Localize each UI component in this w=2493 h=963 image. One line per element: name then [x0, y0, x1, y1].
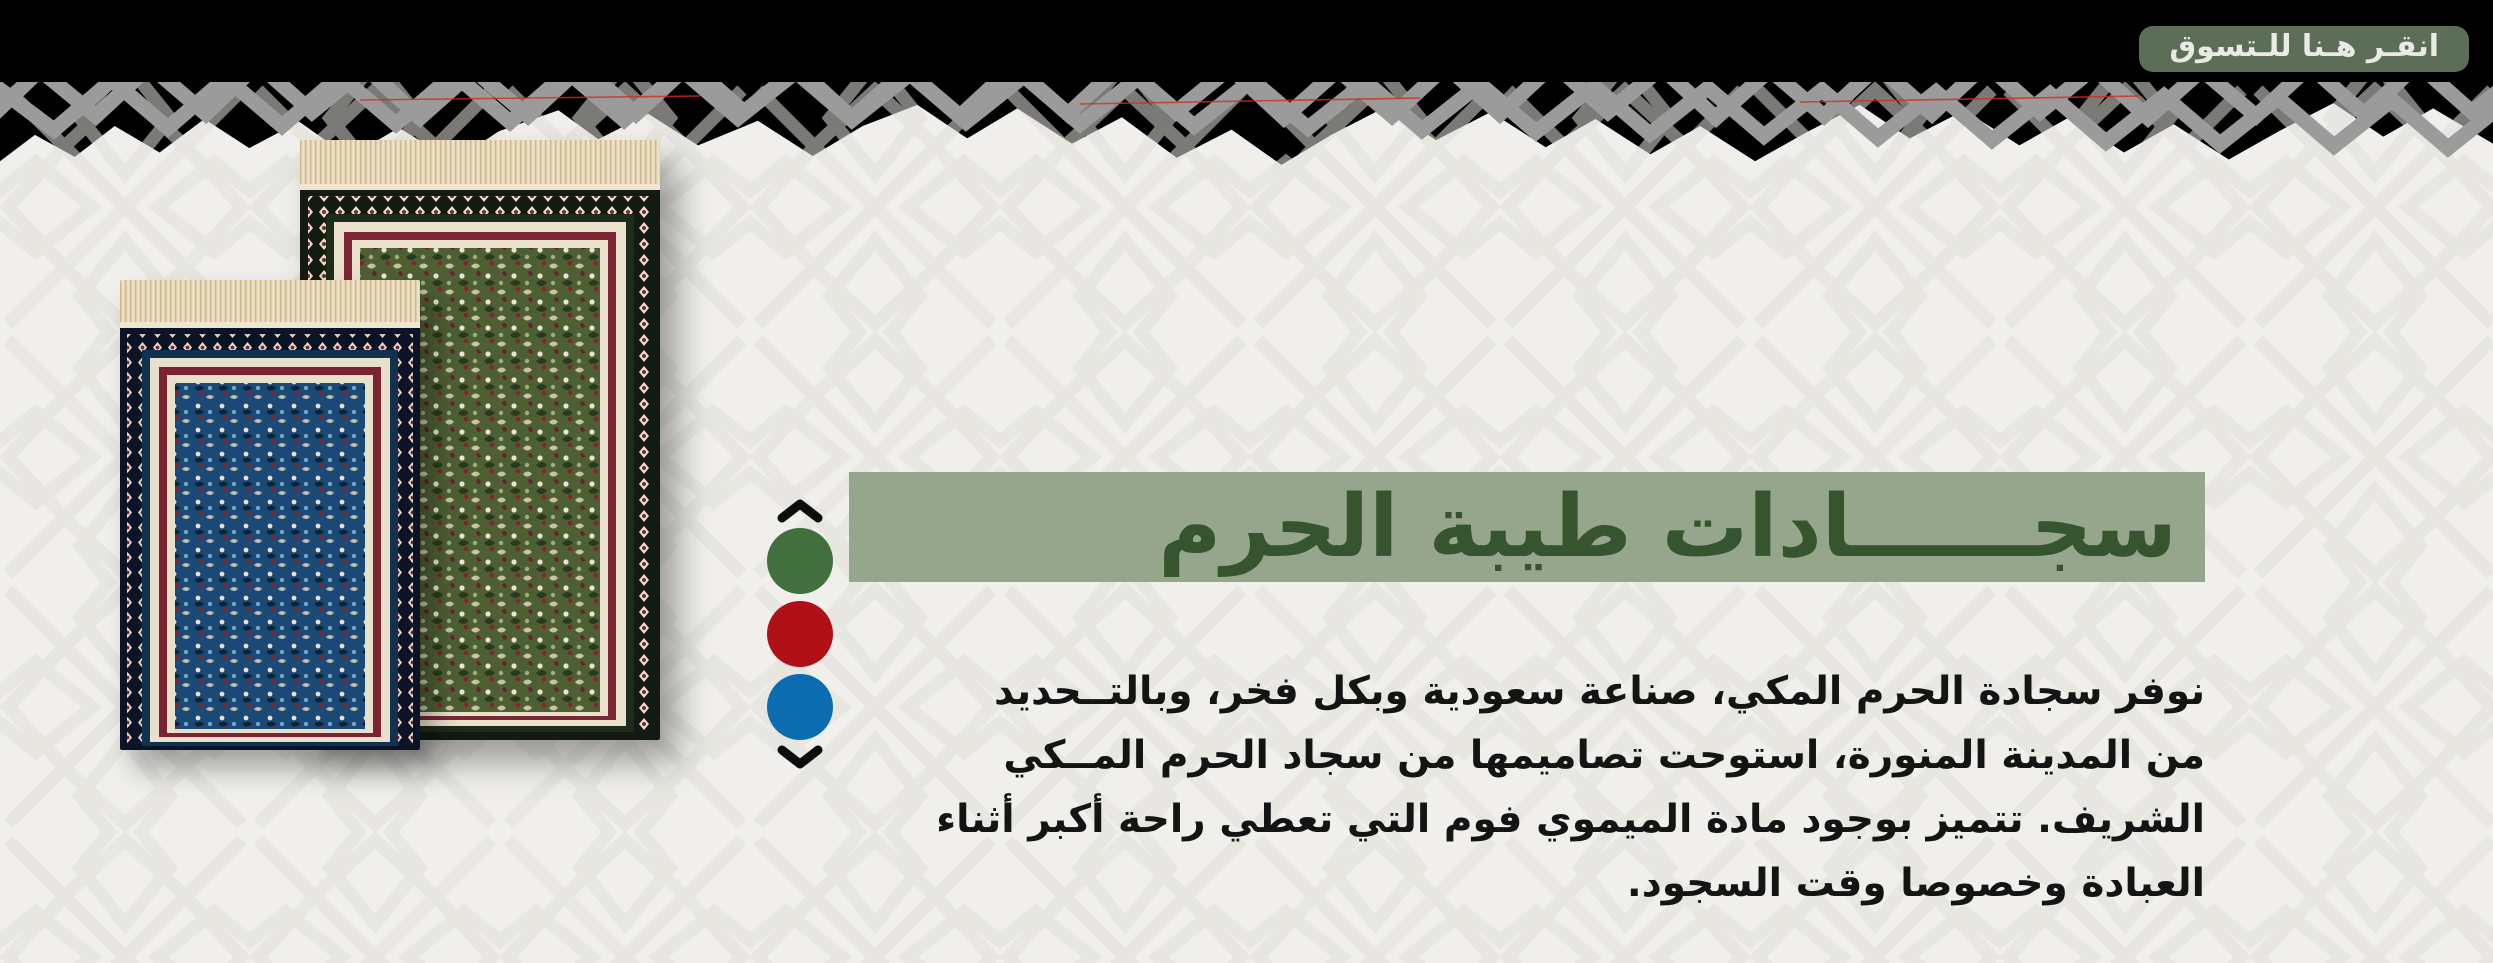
- chevron-up-icon[interactable]: [777, 498, 823, 524]
- color-swatch-green[interactable]: [767, 528, 833, 594]
- description-line: نوفر سجادة الحرم المكي، صناعة سعودية وبك…: [805, 660, 2205, 724]
- page-title: سجــــــادات طيبة الحرم: [1158, 484, 2177, 570]
- product-description: نوفر سجادة الحرم المكي، صناعة سعودية وبك…: [805, 660, 2205, 916]
- blue-prayer-rug[interactable]: [120, 280, 420, 750]
- shop-now-button[interactable]: انقـر هـنا للـتسوق: [2139, 26, 2469, 72]
- description-line: من المدينة المنورة، استوحت تصاميمها من س…: [805, 724, 2205, 788]
- product-images: [100, 140, 720, 860]
- color-swatch-red[interactable]: [767, 601, 833, 667]
- description-line: العبادة وخصوصا وقت السجود.: [805, 852, 2205, 916]
- color-swatch-blue[interactable]: [767, 674, 833, 740]
- color-selector[interactable]: [748, 498, 852, 770]
- chevron-down-icon[interactable]: [777, 744, 823, 770]
- heading-banner: سجــــــادات طيبة الحرم: [849, 472, 2205, 582]
- description-line: الشريف. تتميز بوجود مادة الميموي فوم الت…: [805, 788, 2205, 852]
- top-bar: انقـر هـنا للـتسوق: [0, 0, 2493, 82]
- shop-now-button-label: انقـر هـنا للـتسوق: [2169, 32, 2439, 62]
